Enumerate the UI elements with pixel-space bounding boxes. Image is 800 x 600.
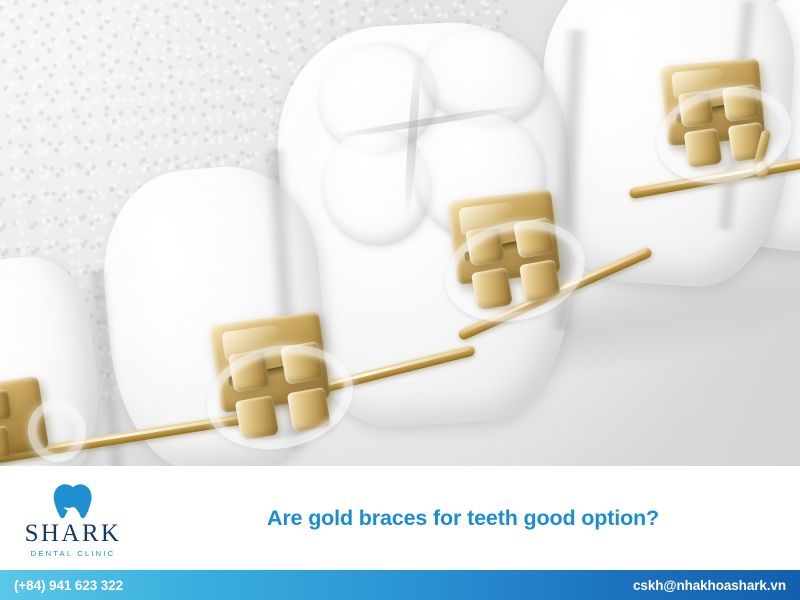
phone-number[interactable]: (+84) 941 623 322 bbox=[14, 578, 123, 593]
email-address[interactable]: cskh@nhakhoashark.vn bbox=[633, 578, 786, 593]
caption-band: SHARK DENTAL CLINIC Are gold braces for … bbox=[0, 466, 800, 570]
brand-tagline: DENTAL CLINIC bbox=[12, 549, 134, 558]
page-title: Are gold braces for teeth good option? bbox=[267, 506, 659, 531]
promo-banner: SHARK DENTAL CLINIC Are gold braces for … bbox=[0, 0, 800, 600]
brand-wordmark: SHARK bbox=[12, 521, 134, 546]
tooth-with-shark-fin-icon bbox=[50, 484, 96, 520]
headline-container: Are gold braces for teeth good option? bbox=[150, 466, 790, 570]
contact-footer: (+84) 941 623 322 cskh@nhakhoashark.vn bbox=[0, 570, 800, 600]
brand-logo[interactable]: SHARK DENTAL CLINIC bbox=[12, 484, 134, 562]
hero-image bbox=[0, 0, 800, 466]
